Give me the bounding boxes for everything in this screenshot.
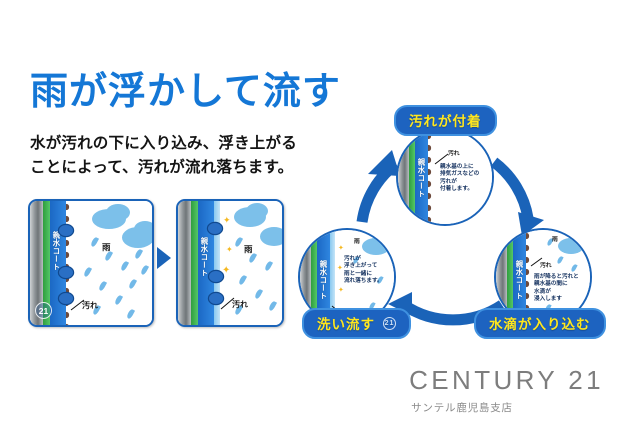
sparkle-icon: ✦ xyxy=(337,264,343,272)
layer-primer xyxy=(191,201,198,325)
rain-label-right: 雨 xyxy=(552,234,558,243)
cycle-pill-dirt-adheres[interactable]: 汚れが付着 xyxy=(394,105,497,136)
coat-label-right: 親水コート xyxy=(514,260,525,300)
layer-metal xyxy=(178,201,191,325)
rain-label-left: 雨 xyxy=(354,236,360,245)
dirt-blob xyxy=(59,267,73,278)
sparkle-icon: ✦ xyxy=(222,265,230,276)
coat-label-left: 親水コート xyxy=(318,260,329,300)
page-subtitle: 水が汚れの下に入り込み、浮き上がる ことによって、汚れが流れ落ちます。 xyxy=(30,132,297,179)
cycle-node-dirt-adheres: 親水コート 汚れ 親水基の上に 排気ガスなどの 汚れが 付着します。 xyxy=(396,128,494,226)
sparkle-icon: ✦ xyxy=(338,244,344,252)
logo-wordmark: CENTURY 21 xyxy=(409,367,604,393)
layer-metal xyxy=(398,130,409,224)
coat-label-before: 親水コート xyxy=(51,231,62,271)
century21-mini-badge: 21 xyxy=(383,317,396,330)
page-title: 雨が浮かして流す xyxy=(30,72,341,113)
dirt-blob-lifted xyxy=(209,271,223,282)
cloud-icon xyxy=(568,234,586,247)
dirt-blob-lifted xyxy=(208,223,222,234)
cycle-body-left: 汚れが 浮き上がって 雨と一緒に 流れ落ちます。 xyxy=(344,256,396,286)
cycle-pill-water-penetrates[interactable]: 水滴が入り込む xyxy=(474,308,606,339)
cloud-icon xyxy=(134,221,154,237)
logo-branch-name: サンテル鹿児島支店 xyxy=(411,400,604,415)
cycle-pill-wash-away[interactable]: 洗い流す 21 xyxy=(302,308,411,339)
pill-label-right: 水滴が入り込む xyxy=(489,313,591,333)
rain-label-before: 雨 xyxy=(102,241,111,253)
slide-root: 雨が浮かして流す 水が汚れの下に入り込み、浮き上がる ことによって、汚れが流れ落… xyxy=(0,0,620,429)
illustration-panel-after: 親水コート ✦ ✦ ✦ 雨 汚れ xyxy=(176,199,284,327)
leader-line xyxy=(70,297,86,311)
subtitle-line-1: 水が汚れの下に入り込み、浮き上がる xyxy=(30,132,297,156)
leader-line xyxy=(220,295,236,311)
cycle-body-right: 雨が降ると汚れと 親水基の間に 水滴が 浸入します xyxy=(534,274,592,304)
coat-label-after: 親水コート xyxy=(199,237,210,277)
century21-badge: 21 xyxy=(35,302,52,319)
subtitle-line-2: ことによって、汚れが流れ落ちます。 xyxy=(30,156,297,180)
sparkle-icon: ✦ xyxy=(223,215,231,226)
pill-label-top: 汚れが付着 xyxy=(409,110,482,130)
dirt-edge xyxy=(428,130,435,224)
coat-label-top: 親水コート xyxy=(416,158,427,198)
dirt-blob xyxy=(59,225,73,236)
cycle-diagram: 親水コート 汚れ 親水基の上に 排気ガスなどの 汚れが 付着します。 汚れが付着… xyxy=(296,100,614,345)
pill-label-left: 洗い流す xyxy=(317,313,375,333)
cloud-icon xyxy=(246,203,268,219)
cycle-body-top: 親水基の上に 排気ガスなどの 汚れが 付着します。 xyxy=(440,164,494,194)
illustration-panel-before: 親水コート 雨 汚れ 21 xyxy=(28,199,154,327)
cloud-icon xyxy=(372,234,390,247)
dirt-label-top: 汚れ xyxy=(448,148,460,157)
company-logo: CENTURY 21 サンテル鹿児島支店 xyxy=(409,367,604,415)
cloud-icon xyxy=(106,204,130,221)
dirt-label-right: 汚れ xyxy=(540,260,552,269)
sparkle-icon: ✦ xyxy=(226,245,233,254)
rain-label-after: 雨 xyxy=(244,243,253,255)
cloud-icon xyxy=(260,227,284,246)
sparkle-icon: ✦ xyxy=(338,286,344,294)
arrow-right-icon xyxy=(157,247,171,269)
